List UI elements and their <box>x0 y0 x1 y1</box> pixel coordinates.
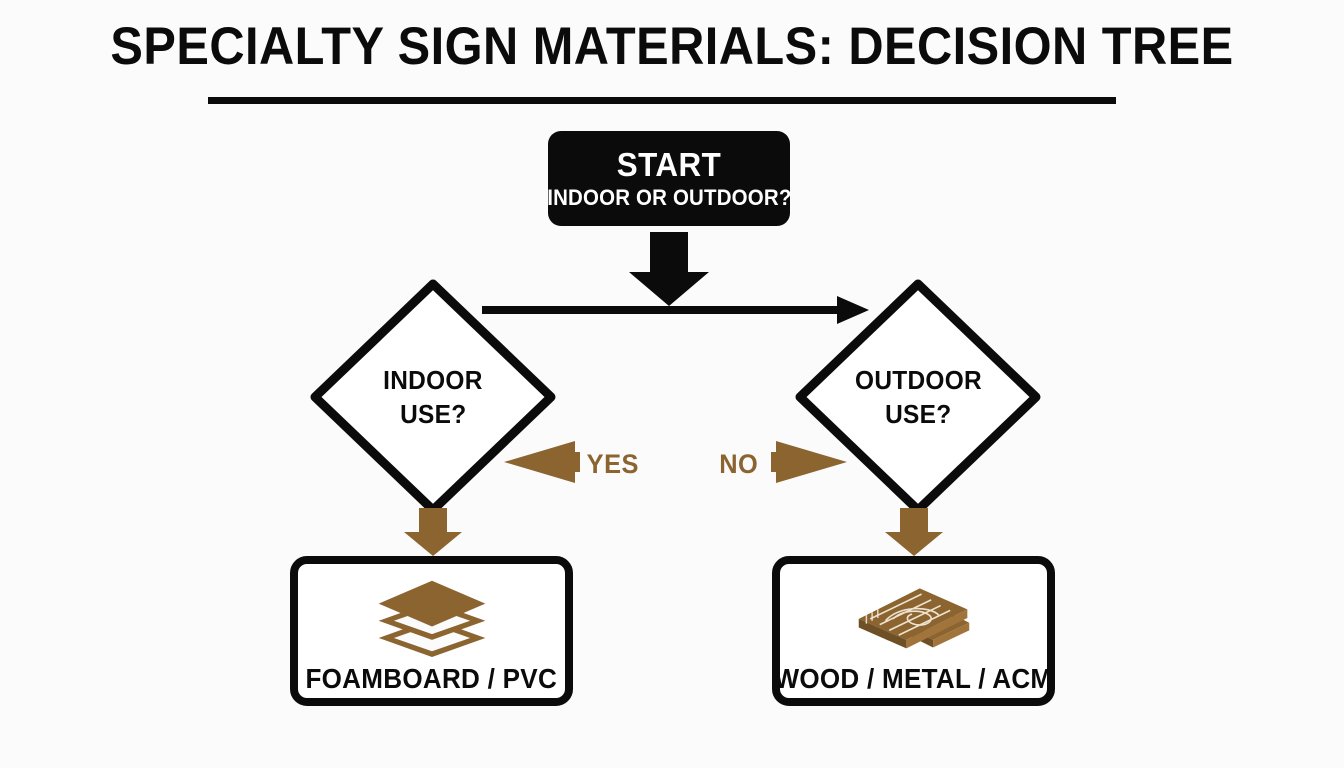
arrow-down-icon-outdoor-result <box>885 508 943 556</box>
decision-outdoor-line2: USE? <box>885 397 951 431</box>
start-node-title: START <box>617 148 722 183</box>
diagram-canvas: SPECIALTY SIGN MATERIALS: DECISION TREE … <box>0 0 1344 768</box>
page-title: SPECIALTY SIGN MATERIALS: DECISION TREE <box>54 20 1290 73</box>
decision-node-outdoor-label: OUTDOOR USE? <box>798 281 1038 513</box>
branch-label-no: NO <box>719 449 758 480</box>
connector-layer <box>0 0 1344 768</box>
title-divider-rule <box>208 97 1116 104</box>
wood-planks-icon <box>844 577 984 657</box>
decision-indoor-line2: USE? <box>400 397 466 431</box>
decision-node-outdoor[interactable]: OUTDOOR USE? <box>798 281 1038 513</box>
decision-node-indoor-label: INDOOR USE? <box>313 281 553 513</box>
result-node-wood[interactable]: WOOD / METAL / ACM <box>772 556 1055 706</box>
branch-label-yes: YES <box>587 449 639 480</box>
decision-outdoor-line1: OUTDOOR <box>855 363 982 397</box>
arrow-down-icon-start <box>629 232 709 306</box>
arrow-down-icon-indoor-result <box>404 508 462 556</box>
result-node-wood-label: WOOD / METAL / ACM <box>775 663 1053 695</box>
result-node-foamboard-label: FOAMBOARD / PVC <box>306 663 558 695</box>
decision-indoor-line1: INDOOR <box>383 363 482 397</box>
title-block: SPECIALTY SIGN MATERIALS: DECISION TREE <box>0 20 1344 73</box>
stacked-sheets-icon <box>362 577 502 657</box>
start-node-subtitle: INDOOR OR OUTDOOR? <box>547 186 791 209</box>
start-node[interactable]: START INDOOR OR OUTDOOR? <box>548 131 790 226</box>
decision-node-indoor[interactable]: INDOOR USE? <box>313 281 553 513</box>
result-node-foamboard[interactable]: FOAMBOARD / PVC <box>290 556 573 706</box>
